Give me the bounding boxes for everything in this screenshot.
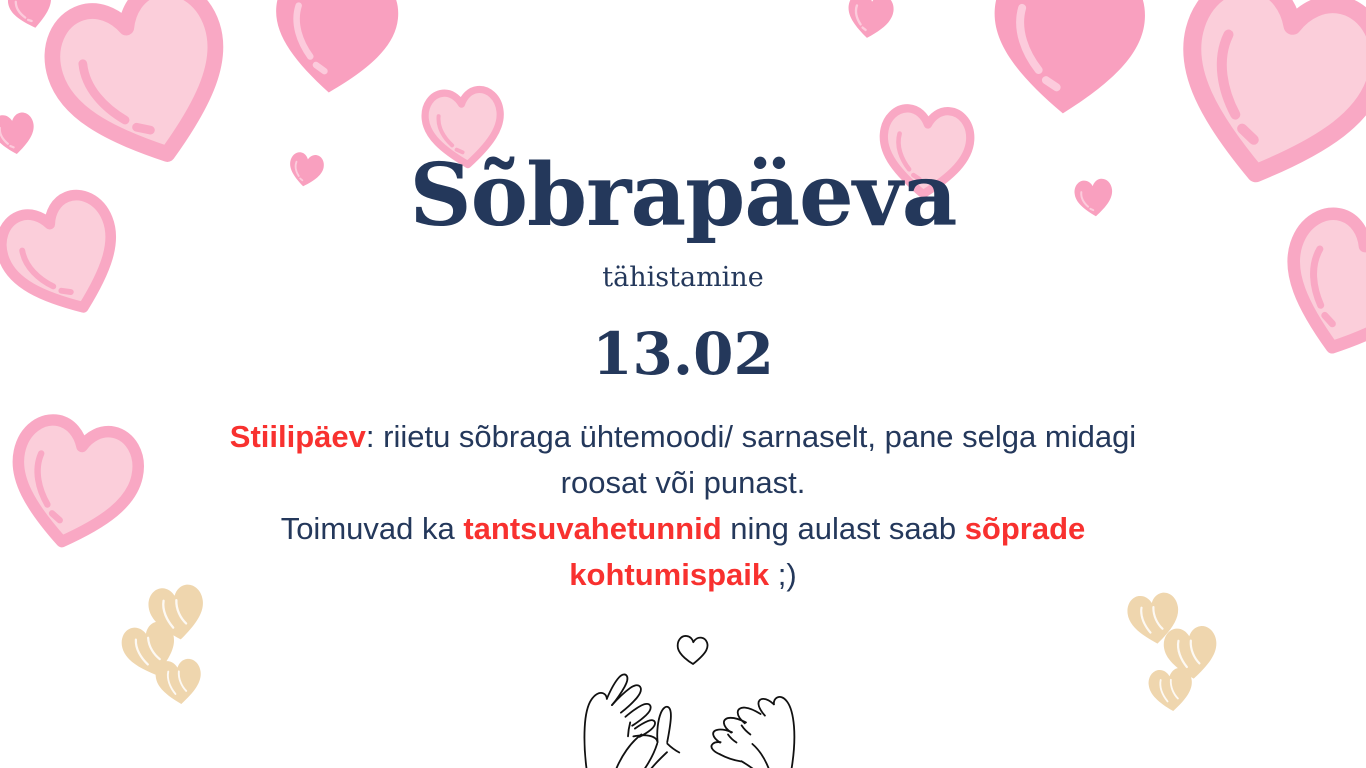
event-date: 13.02 (0, 323, 1366, 387)
accent-tantsuvahetunnid: tantsuvahetunnid (463, 511, 721, 546)
accent-stiilipaev: Stiilipäev (230, 419, 366, 454)
paragraph-2-part-3: ;) (769, 557, 797, 592)
slide-canvas: Sõbrapäeva tähistamine 13.02 Stiilipäev:… (0, 0, 1366, 768)
slide-content: Sõbrapäeva tähistamine 13.02 Stiilipäev:… (0, 0, 1366, 768)
paragraph-2-part-1: Toimuvad ka (281, 511, 464, 546)
body-text-block: Stiilipäev: riietu sõbraga ühtemoodi/ sa… (183, 414, 1183, 598)
paragraph-2-part-2: ning aulast saab (722, 511, 965, 546)
paragraph-1-rest: : riietu sõbraga ühtemoodi/ sarnaselt, p… (366, 419, 1136, 500)
page-title: Sõbrapäeva (0, 152, 1366, 240)
page-subtitle: tähistamine (0, 263, 1366, 293)
body-paragraph-2: Toimuvad ka tantsuvahetunnid ning aulast… (183, 506, 1183, 598)
body-paragraph-1: Stiilipäev: riietu sõbraga ühtemoodi/ sa… (183, 414, 1183, 506)
